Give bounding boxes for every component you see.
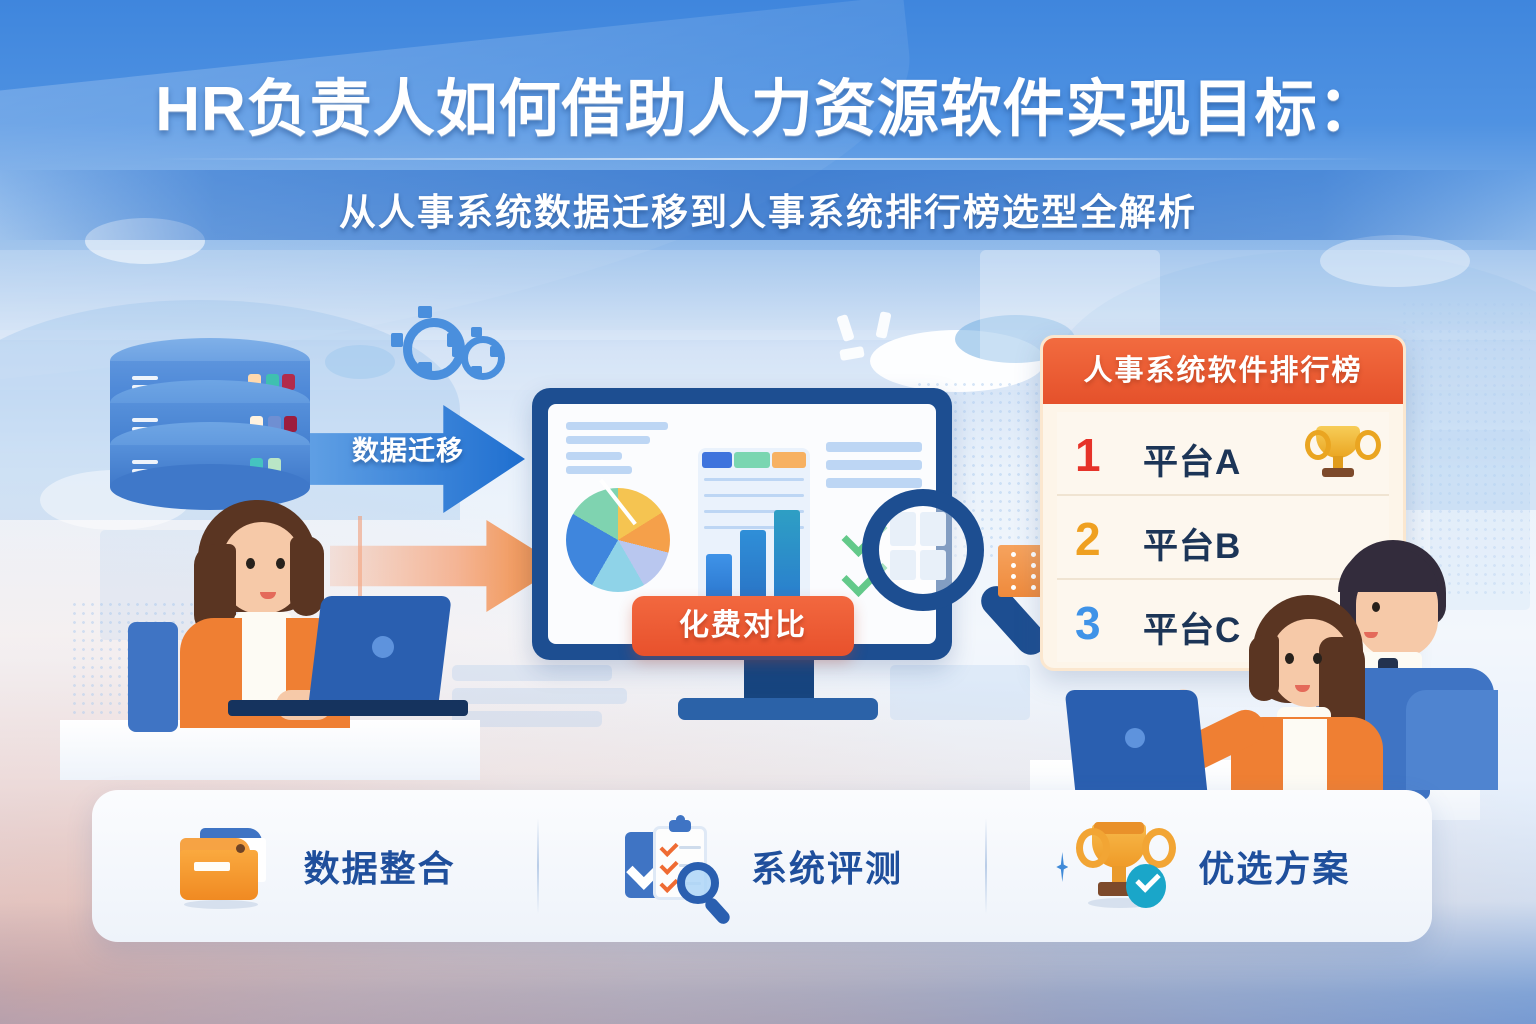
title-divider xyxy=(155,158,1381,160)
background-shape-3 xyxy=(452,688,627,704)
laptop-left-base xyxy=(228,700,468,716)
database-icon xyxy=(110,338,310,510)
stripe-dot xyxy=(1031,563,1036,568)
bar-3 xyxy=(774,510,800,598)
gear-tooth xyxy=(391,333,403,347)
stripe-dot xyxy=(1011,552,1016,557)
check-badge-icon xyxy=(1126,864,1166,908)
ranking-row-1[interactable]: 1 平台A xyxy=(1057,412,1389,496)
gear-tooth xyxy=(447,333,459,347)
ranking-number: 2 xyxy=(1075,512,1101,566)
clipboard-search-icon xyxy=(621,820,725,912)
trophy-check-icon xyxy=(1068,820,1172,912)
bar-1 xyxy=(706,554,732,598)
gear-tooth xyxy=(418,306,432,318)
folder-icon xyxy=(174,820,278,912)
feature-bar: 数据整合 系统评测 xyxy=(92,790,1432,942)
stripe-dot xyxy=(1011,585,1016,590)
ranking-card-title: 人事系统软件排行榜 xyxy=(1043,338,1403,404)
feature-item-3[interactable]: 优选方案 xyxy=(987,790,1432,942)
monitor-base xyxy=(678,698,878,720)
laptop-logo-right xyxy=(1125,728,1145,748)
migration-arrow-label: 数据迁移 xyxy=(318,429,498,468)
feature-item-1[interactable]: 数据整合 xyxy=(92,790,537,942)
magnifier-icon xyxy=(862,489,984,611)
gear-icon-small xyxy=(461,336,505,380)
cost-comparison-badge: 化费对比 xyxy=(632,596,854,656)
gear-tooth xyxy=(471,366,482,376)
page-subtitle: 从人事系统数据迁移到人事系统排行榜选型全解析 xyxy=(0,182,1536,236)
person-right-woman xyxy=(1225,595,1440,810)
gear-tooth xyxy=(418,362,432,374)
background-shape-2 xyxy=(452,665,612,681)
trophy-icon xyxy=(1305,424,1371,484)
ranking-label: 平台B xyxy=(1143,518,1241,569)
laptop-logo-left xyxy=(372,636,394,658)
stripe-dot xyxy=(1011,574,1016,579)
ranking-card-header: 人事系统软件排行榜 xyxy=(1043,338,1403,404)
feature-label: 优选方案 xyxy=(1198,840,1350,892)
gear-tooth xyxy=(452,346,462,357)
feature-label: 系统评测 xyxy=(751,840,903,892)
feature-item-2[interactable]: 系统评测 xyxy=(539,790,984,942)
monitor-neck xyxy=(744,655,814,701)
infographic-poster: HR负责人如何借助人力资源软件实现目标： 从人事系统数据迁移到人事系统排行榜选型… xyxy=(0,0,1536,1024)
stripe-dot xyxy=(1011,563,1016,568)
gear-tooth xyxy=(490,346,500,357)
stripe-dot xyxy=(1031,574,1036,579)
stripe-dot xyxy=(1031,552,1036,557)
page-title: HR负责人如何借助人力资源软件实现目标： xyxy=(0,58,1536,148)
header: HR负责人如何借助人力资源软件实现目标： 从人事系统数据迁移到人事系统排行榜选型… xyxy=(0,0,1536,262)
ranking-number: 1 xyxy=(1075,428,1101,482)
network-blob-icon xyxy=(325,345,395,379)
gear-tooth xyxy=(471,327,482,337)
bar-2 xyxy=(740,530,766,598)
ranking-number: 3 xyxy=(1075,596,1101,650)
stripe-dot xyxy=(1031,585,1036,590)
background-shape-5 xyxy=(890,665,1030,720)
feature-label: 数据整合 xyxy=(304,840,456,892)
cost-comparison-label: 化费对比 xyxy=(632,596,854,656)
ranking-label: 平台A xyxy=(1143,434,1241,485)
